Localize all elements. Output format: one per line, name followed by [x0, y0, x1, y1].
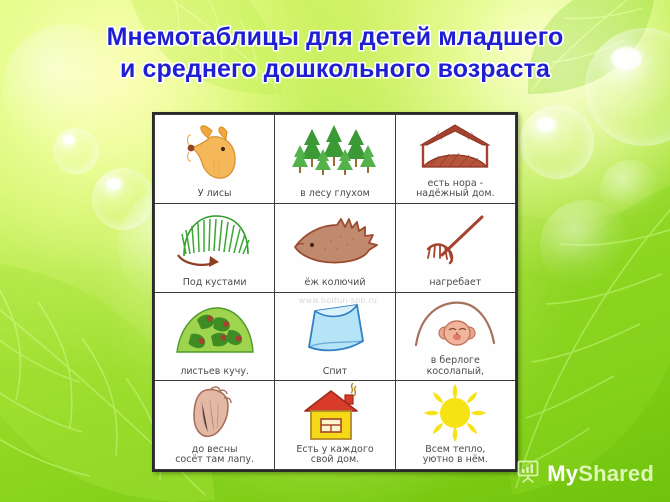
cell-label: до весны сосёт там лапу. — [173, 445, 256, 467]
yellow-house-icon — [275, 381, 394, 445]
table-cell[interactable]: ёж колючий — [275, 203, 395, 292]
bear-paw-icon — [155, 381, 274, 445]
logo-text-shared: Shared — [578, 461, 654, 486]
table-cell[interactable]: Спит — [275, 292, 395, 381]
table-row: У лисы — [155, 115, 516, 204]
mnemonic-table-container: www.boltun-spb.ru — [152, 112, 518, 472]
cell-label: листьев кучу. — [178, 367, 251, 379]
slide-canvas: Мнемотаблицы для детей младшего и средне… — [0, 0, 670, 502]
table-row: до весны сосёт там лапу. — [155, 381, 516, 470]
table-cell[interactable]: Есть у каждого свой дом. — [275, 381, 395, 470]
table-cell[interactable]: до весны сосёт там лапу. — [155, 381, 275, 470]
sun-icon — [396, 381, 515, 445]
fir-forest-icon — [275, 115, 394, 189]
cell-label: в берлоге косолапый, — [425, 356, 486, 378]
bubble-soft-right-small — [600, 160, 660, 220]
table-cell[interactable]: в лесу глухом — [275, 115, 395, 204]
table-row: Под кустами — [155, 203, 516, 292]
leaf-pile-icon — [155, 293, 274, 367]
page-title: Мнемотаблицы для детей младшего и средне… — [0, 22, 670, 85]
cell-label: ёж колючий — [302, 278, 367, 290]
mnemonic-table: У лисы — [154, 114, 516, 470]
blue-blanket-icon — [275, 293, 394, 367]
cell-label: есть нора - надёжный дом. — [414, 179, 496, 201]
burrow-den-icon — [396, 115, 515, 179]
table-cell[interactable]: в берлоге косолапый, — [395, 292, 515, 381]
cell-label: Спит — [321, 367, 350, 379]
cell-label: в лесу глухом — [298, 189, 372, 201]
fox-head-icon — [155, 115, 274, 189]
table-cell[interactable]: Всем тепло, уютно в нём. — [395, 381, 515, 470]
cell-label: Всем тепло, уютно в нём. — [421, 445, 490, 467]
cell-label: Под кустами — [181, 278, 249, 290]
green-bush-icon — [155, 204, 274, 278]
table-cell[interactable]: Под кустами — [155, 203, 275, 292]
cell-label: нагребает — [427, 278, 483, 290]
table-cell[interactable]: У лисы — [155, 115, 275, 204]
cell-label: У лисы — [196, 189, 234, 201]
bear-in-den-icon — [396, 293, 515, 357]
table-cell[interactable]: есть нора - надёжный дом. — [395, 115, 515, 204]
hedgehog-icon — [275, 204, 394, 278]
table-cell[interactable]: нагребает — [395, 203, 515, 292]
logo-text-my: My — [547, 461, 578, 486]
cell-label: Есть у каждого свой дом. — [294, 445, 375, 467]
myshared-logo[interactable]: MyShared — [516, 459, 654, 488]
bubble-medium-right — [520, 105, 594, 179]
rake-icon — [396, 204, 515, 278]
presentation-board-icon — [516, 459, 540, 488]
table-row: листьев кучу. Спи — [155, 292, 516, 381]
table-cell[interactable]: листьев кучу. — [155, 292, 275, 381]
